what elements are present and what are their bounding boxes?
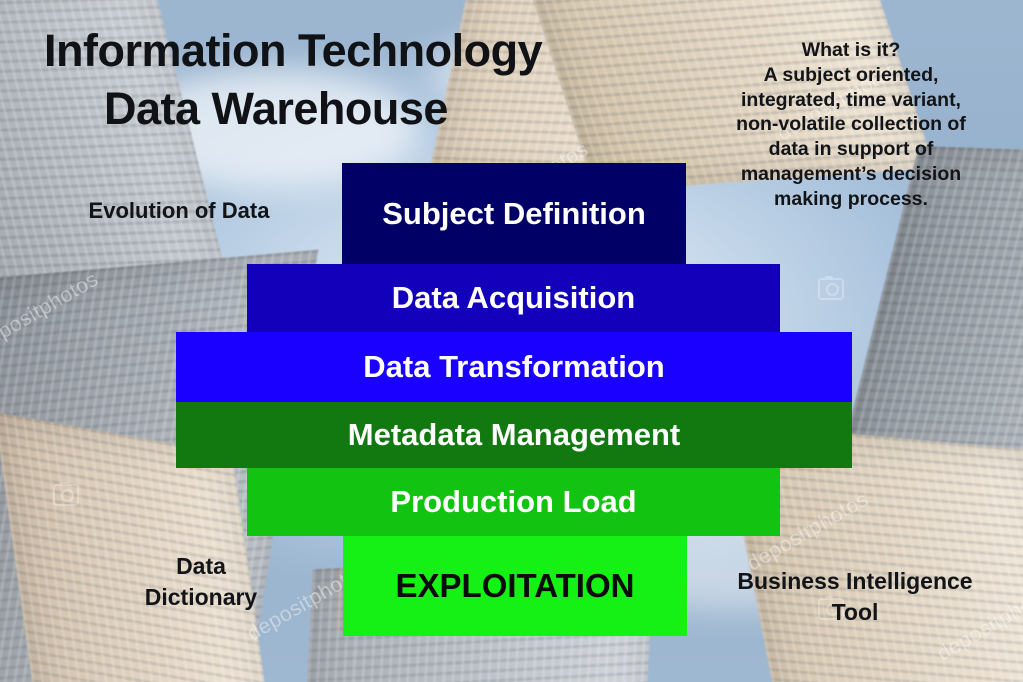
pyramid-layer[interactable]: Production Load [247,468,780,536]
pyramid-layer-label: EXPLOITATION [396,567,635,605]
process-pyramid: Subject DefinitionData AcquisitionData T… [0,0,1023,682]
pyramid-layer[interactable]: Subject Definition [342,163,686,264]
pyramid-layer[interactable]: Data Transformation [176,332,852,402]
pyramid-layer[interactable]: Data Acquisition [247,264,780,332]
pyramid-layer-label: Data Acquisition [392,280,635,316]
pyramid-layer-label: Data Transformation [363,349,664,385]
pyramid-layer-label: Metadata Management [348,417,680,453]
pyramid-layer-label: Subject Definition [382,196,646,232]
pyramid-layer[interactable]: EXPLOITATION [343,536,687,636]
infographic-canvas: depositphotos depositphotos depositphoto… [0,0,1023,682]
pyramid-layer[interactable]: Metadata Management [176,402,852,468]
pyramid-layer-label: Production Load [390,484,636,520]
